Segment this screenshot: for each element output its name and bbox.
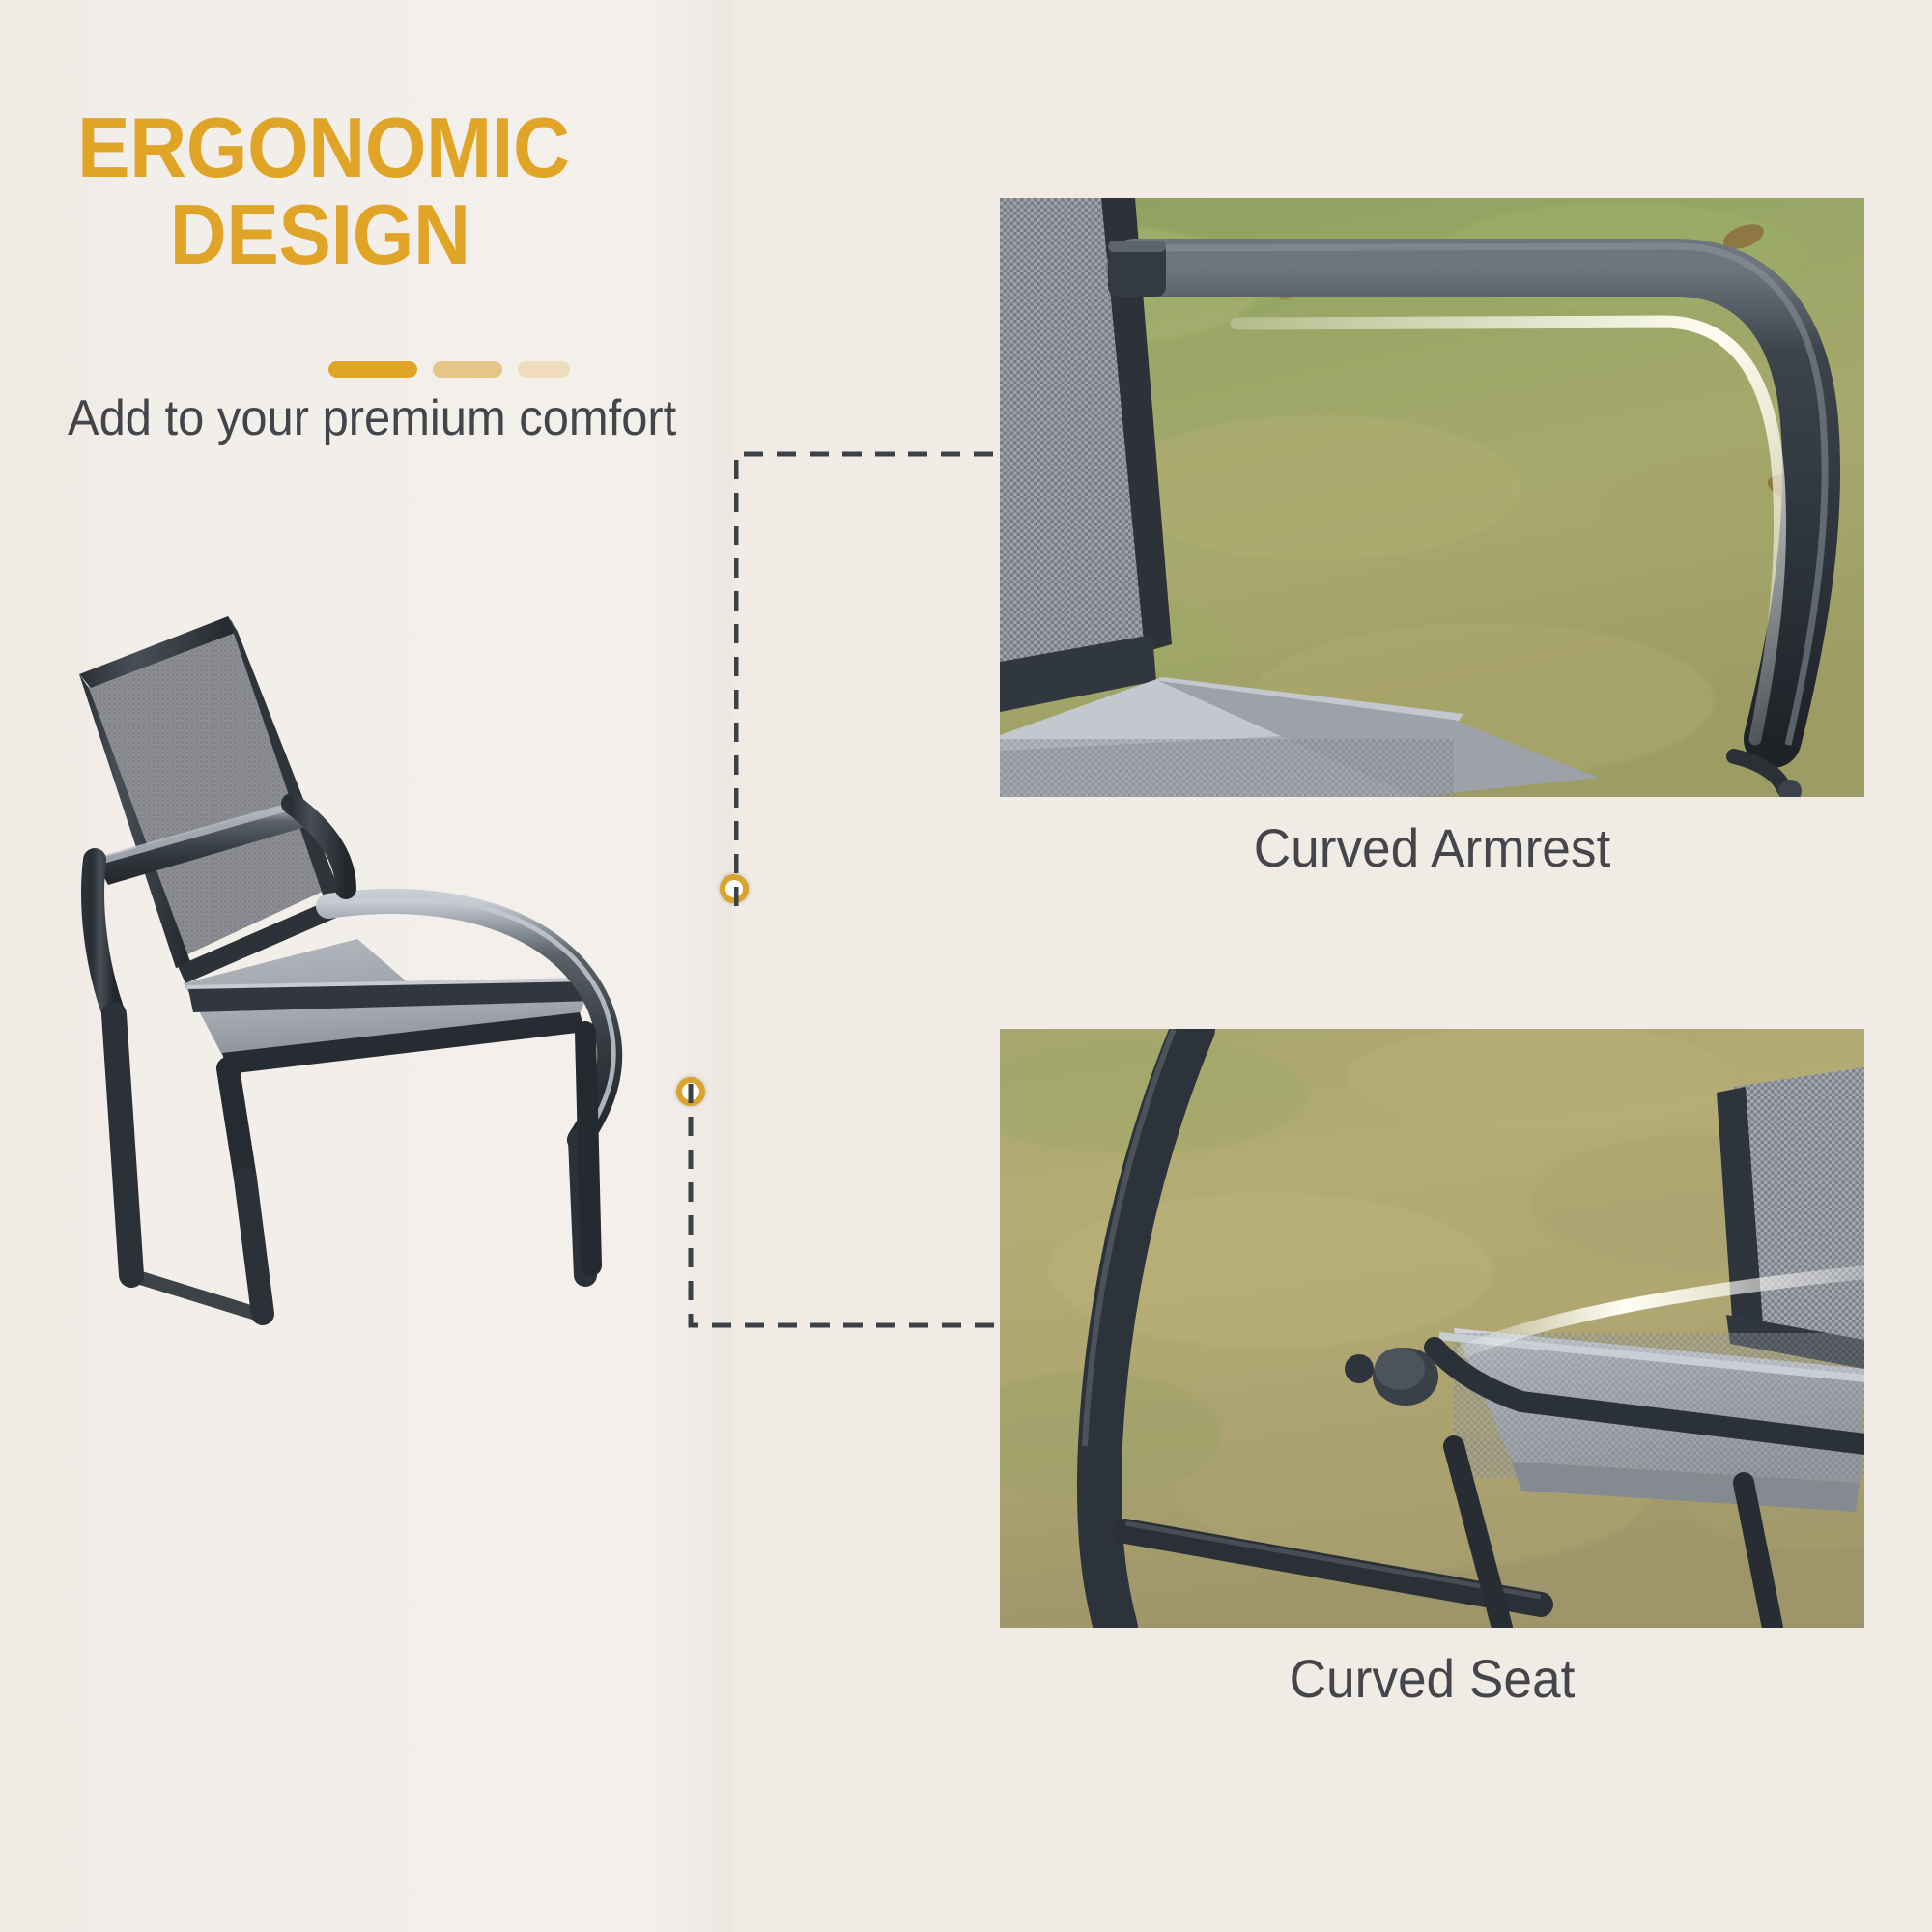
- dash-primary: [328, 361, 417, 378]
- detail-photo-curved-armrest: [1000, 198, 1864, 797]
- product-photo-chair: [39, 599, 831, 1372]
- dash-tertiary: [518, 361, 570, 378]
- caption-curved-seat: Curved Seat: [1021, 1647, 1842, 1710]
- callout-marker-armrest[interactable]: [720, 874, 749, 903]
- caption-curved-armrest: Curved Armrest: [1021, 816, 1842, 879]
- title-divider: [328, 361, 570, 378]
- detail-photo-curved-seat: [1000, 1029, 1864, 1628]
- page-title: ERGONOMIC DESIGN: [77, 104, 670, 278]
- page-subtitle: Add to your premium comfort: [68, 389, 676, 447]
- page-title-line2: DESIGN: [77, 191, 670, 278]
- callout-marker-seat[interactable]: [676, 1077, 705, 1106]
- infographic-canvas: ERGONOMIC DESIGN Add to your premium com…: [0, 0, 1932, 1932]
- page-title-line1: ERGONOMIC: [77, 104, 670, 191]
- dash-secondary: [433, 361, 502, 378]
